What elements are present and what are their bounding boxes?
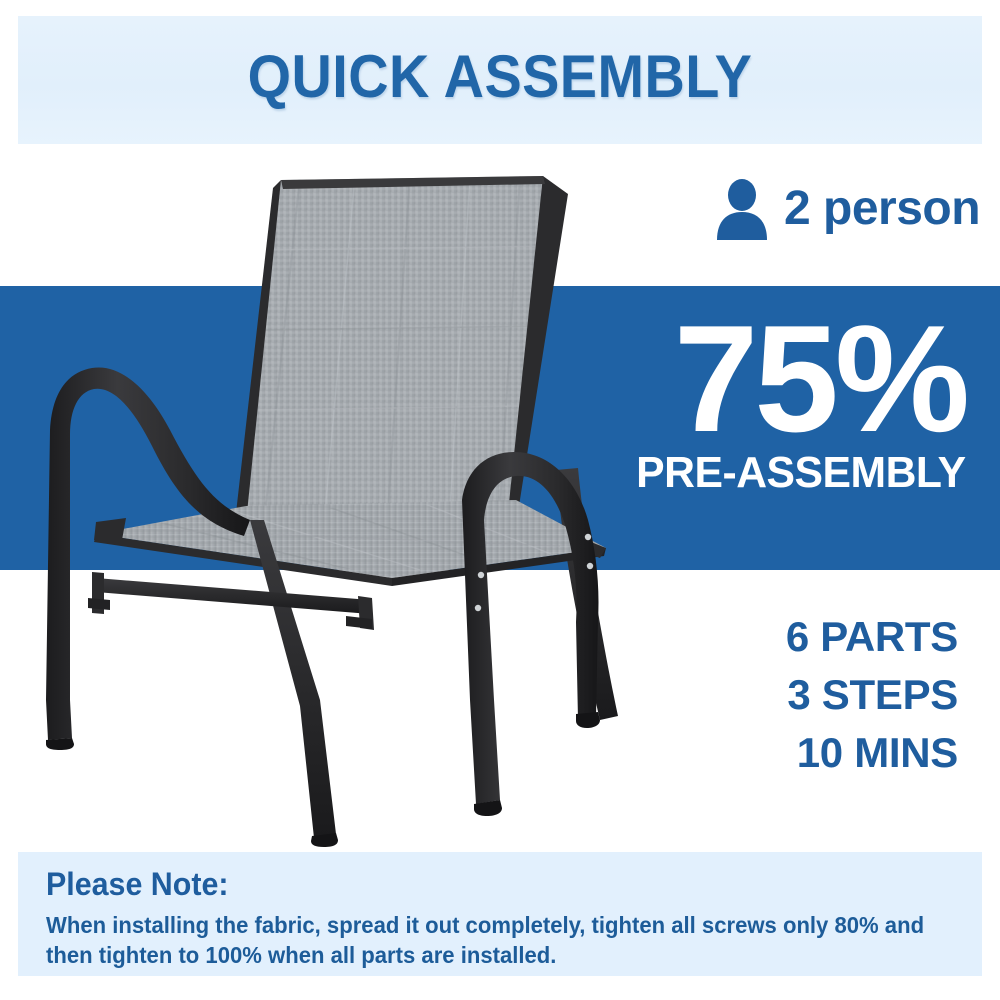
pre-assembly-highlight: 75% PRE-ASSEMBLY [626, 314, 966, 495]
note-box: Please Note: When installing the fabric,… [18, 852, 982, 976]
product-chair-image [0, 0, 1000, 1000]
person-capacity: 2 person [714, 168, 980, 250]
person-icon [714, 178, 770, 240]
pre-assembly-percent: 75% [626, 314, 966, 445]
person-capacity-label: 2 person [784, 185, 980, 233]
infographic-page: QUICK ASSEMBLY 2 person 75% PRE-ASSEMBLY… [0, 0, 1000, 1000]
stat-steps: 3 STEPS [786, 666, 958, 724]
stat-mins: 10 MINS [786, 724, 958, 782]
pre-assembly-caption: PRE-ASSEMBLY [637, 451, 966, 495]
note-title: Please Note: [46, 866, 228, 903]
assembly-stats: 6 PARTS 3 STEPS 10 MINS [786, 608, 958, 782]
page-title: QUICK ASSEMBLY [52, 42, 949, 111]
stat-parts: 6 PARTS [786, 608, 958, 666]
header-banner: QUICK ASSEMBLY [18, 16, 982, 144]
note-body: When installing the fabric, spread it ou… [46, 910, 929, 971]
